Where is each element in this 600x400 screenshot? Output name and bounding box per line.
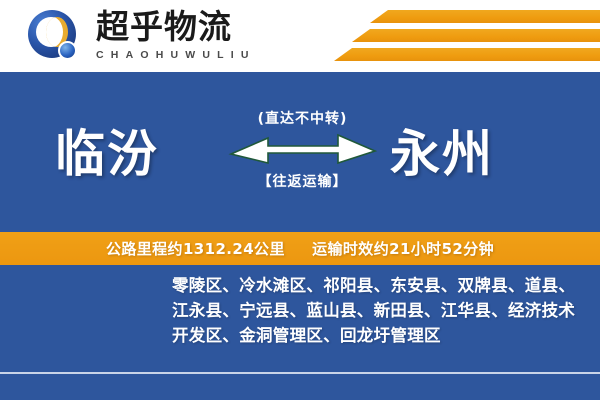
- double-headed-arrow-icon: [228, 132, 378, 166]
- brand-name-en: CHAOHUWULIU: [96, 48, 256, 63]
- banner-header: 超乎物流 CHAOHUWULIU: [0, 0, 600, 72]
- brand-block: 超乎物流 CHAOHUWULIU: [96, 8, 256, 63]
- route-info-bar: 公路里程约1312.24公里 运输时效约21小时52分钟: [0, 232, 600, 265]
- round-trip-note: 【往返运输】: [225, 171, 380, 191]
- logo-accent-dot: [58, 41, 77, 60]
- bottom-divider-line: [0, 372, 600, 374]
- distance-text: 公路里程约1312.24公里: [106, 240, 285, 258]
- destination-city: 永州: [390, 114, 494, 186]
- coverage-areas-text: 零陵区、冷水滩区、祁阳县、东安县、双牌县、道县、江永县、宁远县、蓝山县、新田县、…: [172, 273, 587, 348]
- header-stripe-3: [334, 48, 600, 61]
- direct-route-note: (直达不中转): [225, 108, 380, 128]
- route-panel: 临汾 (直达不中转) 【往返运输】 永州: [0, 72, 600, 232]
- header-stripe-2: [352, 29, 600, 42]
- route-info-text: 公路里程约1312.24公里 运输时效约21小时52分钟: [106, 238, 494, 259]
- q-circle-logo-icon: [28, 10, 82, 64]
- header-stripes-decoration: [320, 8, 600, 66]
- origin-city: 临汾: [55, 114, 159, 186]
- coverage-panel: 零陵区、冷水滩区、祁阳县、东安县、双牌县、道县、江永县、宁远县、蓝山县、新田县、…: [0, 265, 600, 400]
- route-middle-block: (直达不中转) 【往返运输】: [225, 108, 380, 191]
- header-stripe-1: [370, 10, 600, 23]
- logistics-route-banner: 超乎物流 CHAOHUWULIU 临汾 (直达不中转) 【往返运输】 永州 公路…: [0, 0, 600, 400]
- duration-text: 运输时效约21小时52分钟: [312, 240, 494, 258]
- brand-name-cn: 超乎物流: [96, 8, 256, 46]
